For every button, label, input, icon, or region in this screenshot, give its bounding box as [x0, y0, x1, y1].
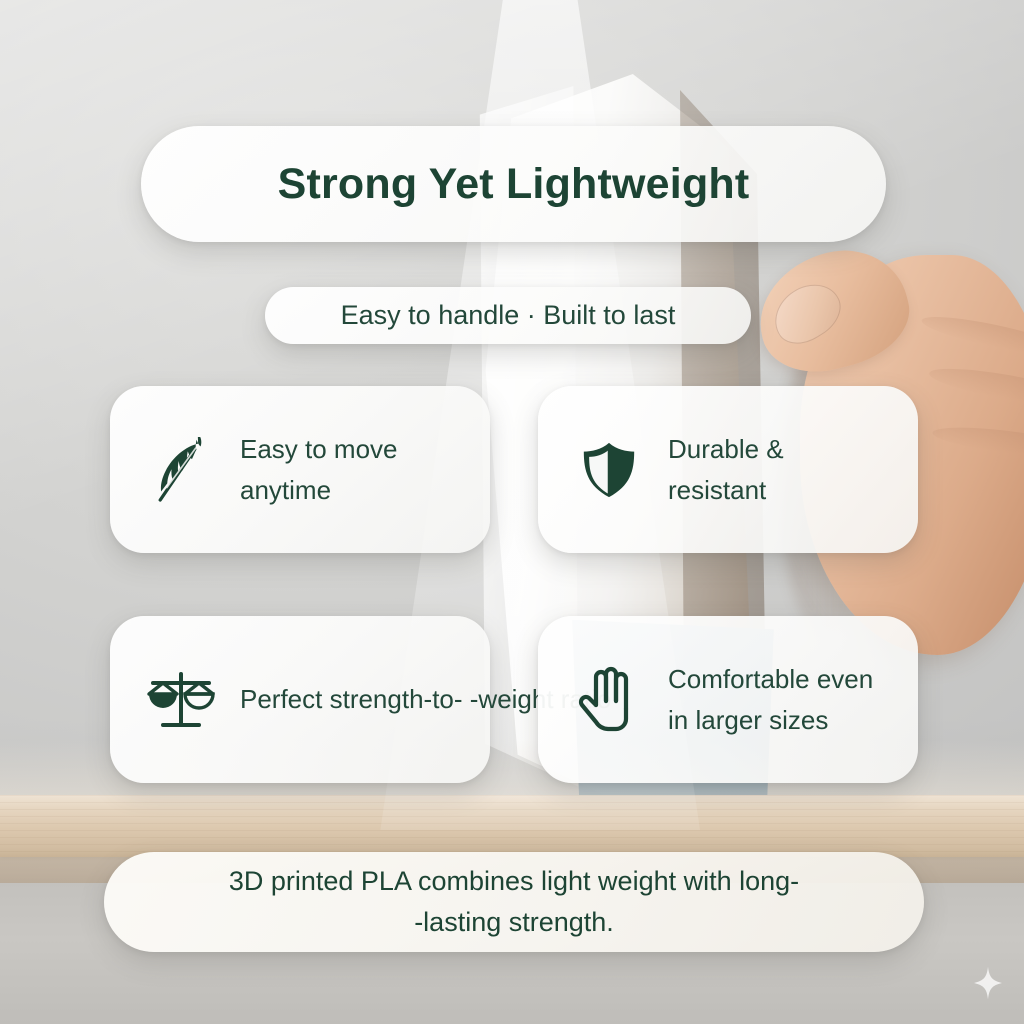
footer-caption: 3D printed PLA combines light weight wit…	[229, 861, 799, 943]
thumb-nail	[763, 273, 850, 354]
feature-card-comfortable[interactable]: Comfortable even in larger sizes	[538, 616, 918, 783]
page-subtitle: Easy to handle · Built to last	[341, 300, 676, 331]
feature-card-durable[interactable]: Durable & resistant	[538, 386, 918, 553]
hand-crease-3	[931, 422, 1024, 462]
footer-banner: 3D printed PLA combines light weight wit…	[104, 852, 924, 952]
hand-crease-2	[927, 361, 1024, 412]
feature-card-easy-to-move[interactable]: Easy to move anytime	[110, 386, 490, 553]
infographic-canvas: Strong Yet Lightweight Easy to handle · …	[0, 0, 1024, 1024]
balance-scale-icon	[144, 658, 218, 742]
wooden-shelf	[0, 795, 1024, 857]
wood-grain	[0, 795, 1024, 857]
shield-icon	[572, 428, 646, 512]
feature-label: Comfortable even in larger sizes	[668, 659, 873, 741]
sparkle-icon	[974, 966, 1002, 1000]
hand-crease-1	[919, 310, 1024, 363]
page-title: Strong Yet Lightweight	[278, 160, 750, 209]
title-banner: Strong Yet Lightweight	[141, 126, 886, 242]
feature-card-strength-to-weight[interactable]: Perfect strength-to- -weight ratio	[110, 616, 490, 783]
feature-label: Easy to move anytime	[240, 429, 398, 511]
subtitle-banner: Easy to handle · Built to last	[265, 287, 751, 344]
feather-icon	[144, 428, 218, 512]
feature-label: Durable & resistant	[668, 429, 784, 511]
open-hand-icon	[572, 658, 646, 742]
